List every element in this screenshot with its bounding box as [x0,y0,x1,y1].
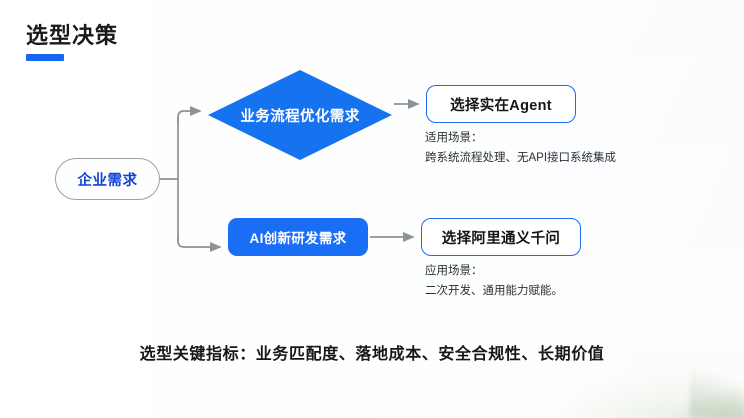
flow-node-condition-1[interactable]: 业务流程优化需求 [208,70,392,160]
flow-node-root[interactable]: 企业需求 [55,158,160,200]
flow-detail-2: 应用场景： 二次开发、通用能力赋能。 [425,261,563,301]
flow-result-2[interactable]: 选择阿里通义千问 [421,218,581,256]
flow-detail-1-body: 跨系统流程处理、无API接口系统集成 [425,148,616,168]
title-accent-bar [26,54,64,61]
flow-node-condition-1-label: 业务流程优化需求 [208,70,392,160]
slide-canvas: 选型决策 企业需求 业务流程优化需求 选择实在Agent 适用场景： [0,0,744,418]
flow-result-1[interactable]: 选择实在Agent [426,85,576,123]
flow-node-condition-2[interactable]: AI创新研发需求 [228,218,368,256]
footer-key-indicators: 选型关键指标：业务匹配度、落地成本、安全合规性、长期价值 [0,340,744,364]
flow-detail-2-body: 二次开发、通用能力赋能。 [425,281,563,301]
flow-detail-1: 适用场景： 跨系统流程处理、无API接口系统集成 [425,128,616,168]
flow-result-1-label: 选择实在Agent [450,94,552,115]
flow-node-root-label: 企业需求 [78,169,138,190]
flow-node-condition-2-label: AI创新研发需求 [250,227,347,247]
flow-detail-2-heading: 应用场景： [425,261,563,281]
flow-detail-1-heading: 适用场景： [425,128,616,148]
flow-result-2-label: 选择阿里通义千问 [442,227,560,248]
page-title: 选型决策 [26,18,118,50]
